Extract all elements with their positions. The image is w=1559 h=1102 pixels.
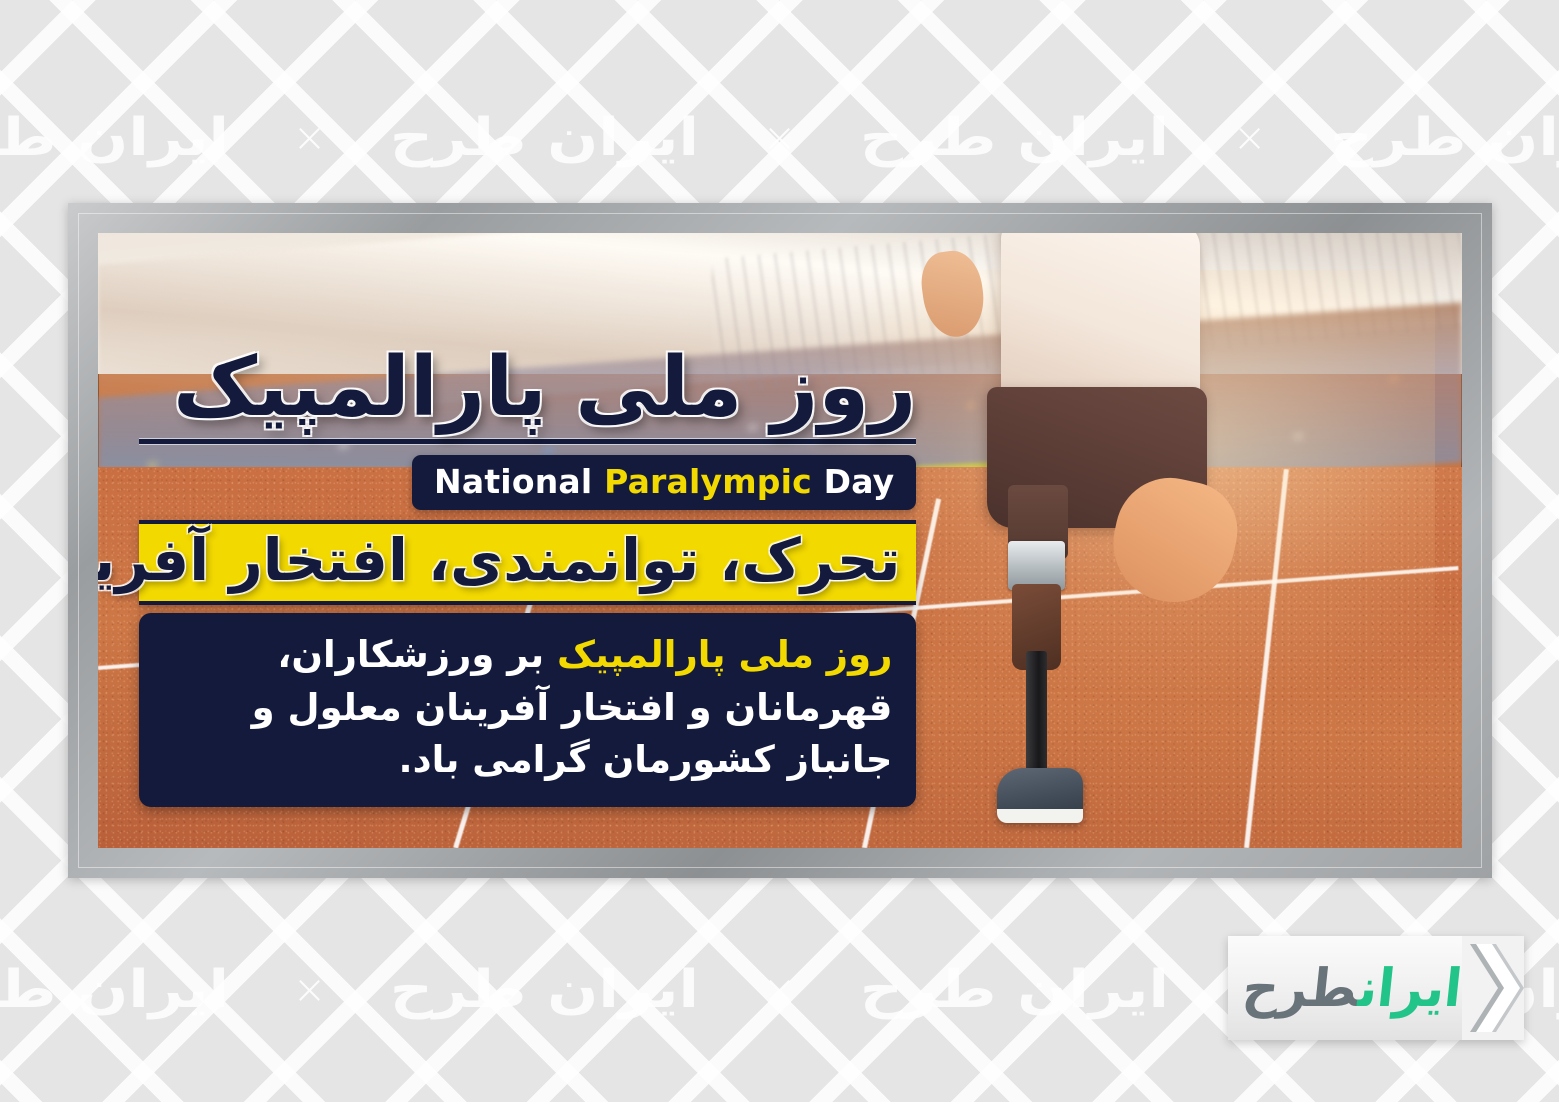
watermark-text: ایران طرح <box>0 108 229 168</box>
banner-frame: روز ملی پارالمپیک National Paralympic Da… <box>68 203 1492 878</box>
watermark-separator: × <box>293 967 327 1013</box>
watermark-separator: × <box>293 115 327 161</box>
english-word-day: Day <box>824 462 895 501</box>
logo-word-tarh: طرح <box>1239 958 1361 1019</box>
brand-logo: ایرانطرح <box>1228 959 1462 1017</box>
runner-shoe <box>997 768 1082 823</box>
banner-title: روز ملی پارالمپیک <box>139 344 916 433</box>
watermark-text: ایران طرح <box>860 960 1169 1020</box>
watermark-text: ایران طرح <box>860 108 1169 168</box>
watermark-text: ایران طرح <box>0 960 229 1020</box>
watermark-separator: × <box>763 967 797 1013</box>
watermark-text: ایران طرح <box>390 960 699 1020</box>
watermark-text: ایران طرح <box>390 108 699 168</box>
body-message: روز ملی پارالمپیک بر ورزشکاران، قهرمانان… <box>163 629 892 787</box>
title-divider-rule <box>139 438 916 445</box>
watermark-row: ایران طرح × ایران طرح × ایران طرح × ایرا… <box>0 108 1559 168</box>
brand-badge[interactable]: ایرانطرح <box>1228 936 1524 1040</box>
banner-artwork: روز ملی پارالمپیک National Paralympic Da… <box>98 233 1462 848</box>
body-highlight: روز ملی پارالمپیک <box>557 633 892 676</box>
chevron-left-icon <box>1462 936 1524 1040</box>
english-word-paralympic: Paralympic <box>604 462 812 501</box>
prosthetic-pylon <box>1026 651 1047 786</box>
banner-tagline: تحرک، توانمندی، افتخار آفرینی <box>155 530 900 591</box>
watermark-separator: × <box>763 115 797 161</box>
watermark-separator: × <box>1233 115 1267 161</box>
body-message-band: روز ملی پارالمپیک بر ورزشکاران، قهرمانان… <box>139 613 916 807</box>
photo-runner-athlete <box>930 233 1285 848</box>
runner-torso <box>1001 233 1200 405</box>
prosthetic-knee-joint <box>1008 541 1065 590</box>
tagline-band: تحرک، توانمندی، افتخار آفرینی <box>139 520 916 605</box>
english-title-band: National Paralympic Day <box>412 455 916 510</box>
watermark-text: ایران طرح <box>1330 108 1559 168</box>
page-background: ایران طرح × ایران طرح × ایران طرح × ایرا… <box>0 0 1559 1102</box>
english-word-national: National <box>434 462 592 501</box>
logo-word-iran: ایران <box>1355 958 1464 1019</box>
banner-copy-block: روز ملی پارالمپیک National Paralympic Da… <box>139 344 916 807</box>
